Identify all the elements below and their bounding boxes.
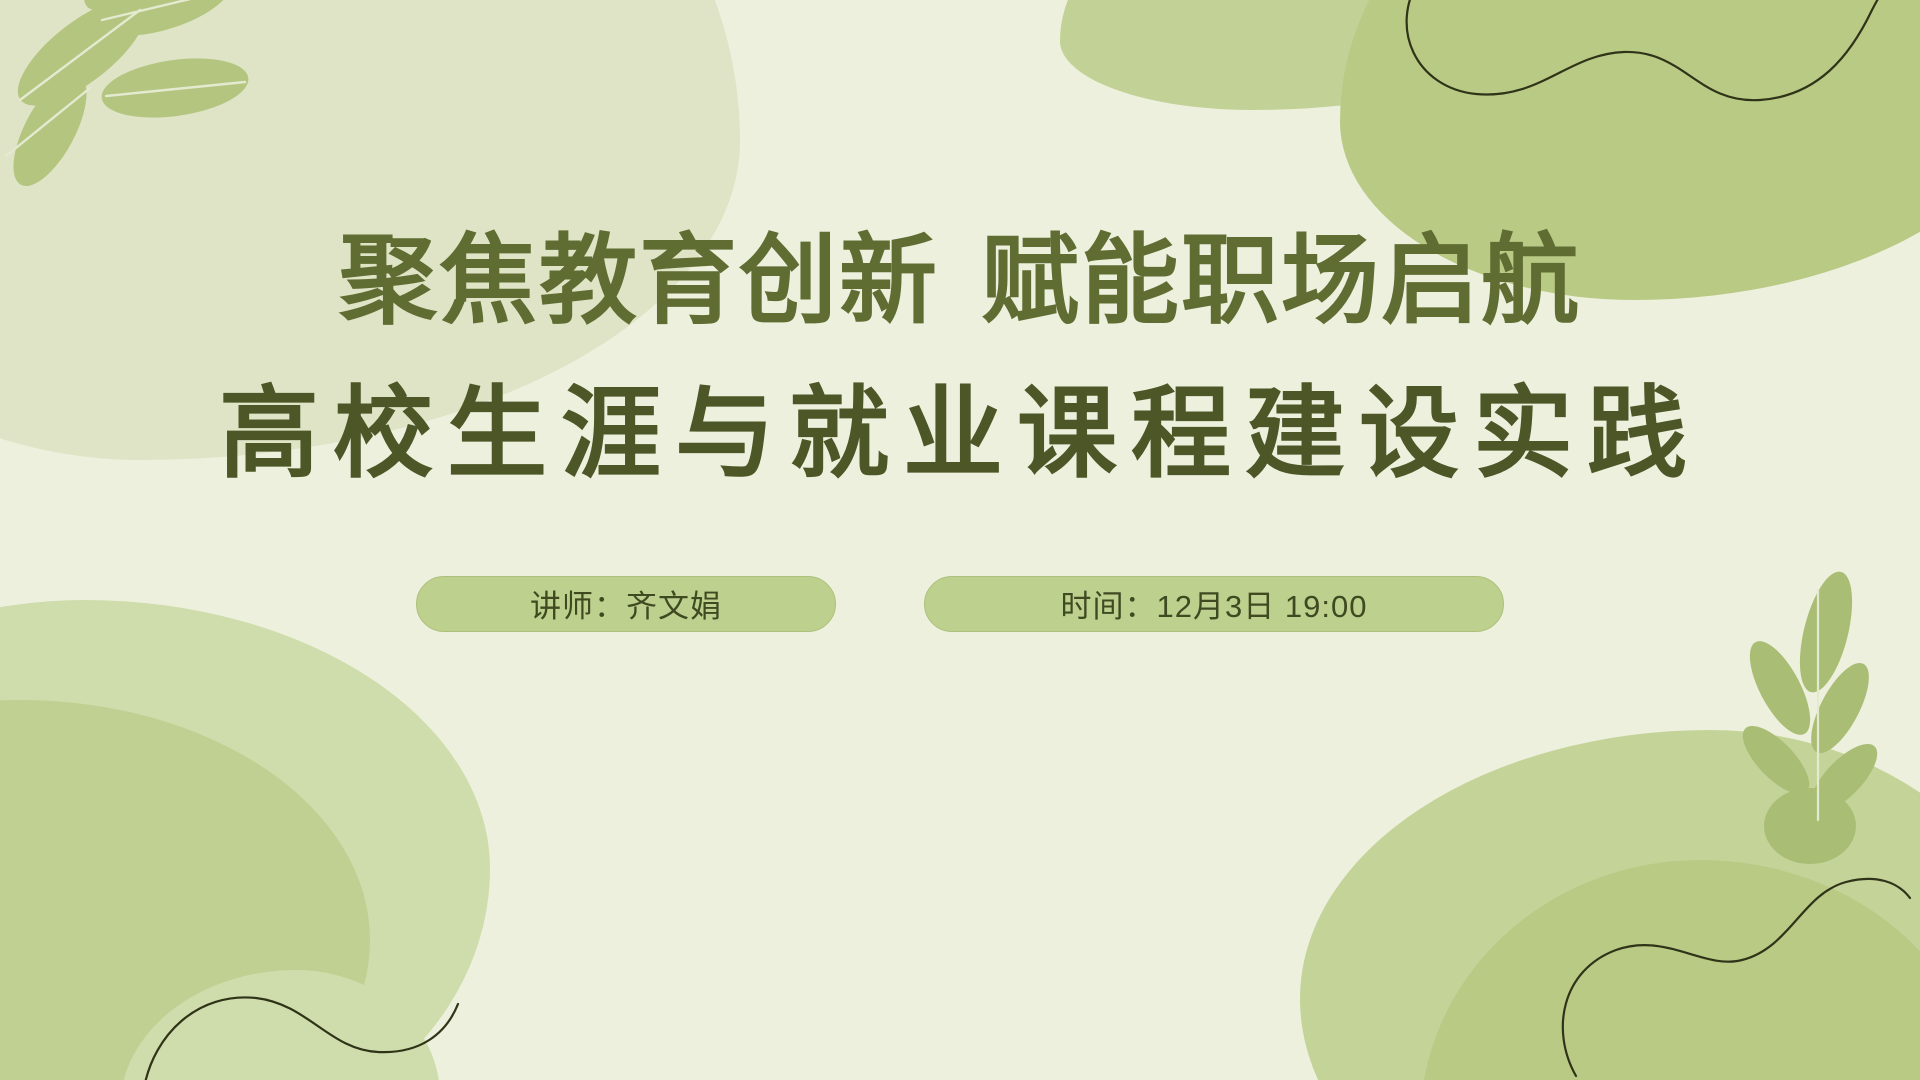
poster-canvas: 聚焦教育创新赋能职场启航 高校生涯与就业课程建设实践 讲师：齐文娟 时间：12月… [0, 0, 1920, 1080]
title-line1-part1: 聚焦教育创新 [339, 225, 939, 335]
title-line-2: 高校生涯与就业课程建设实践 [0, 380, 1920, 488]
title-block: 聚焦教育创新赋能职场启航 高校生涯与就业课程建设实践 [0, 228, 1920, 488]
time-badge-label: 时间：12月3日 19:00 [1061, 581, 1368, 626]
badge-row: 讲师：齐文娟 时间：12月3日 19:00 [416, 576, 1504, 632]
speaker-badge-label: 讲师：齐文娟 [530, 581, 722, 626]
speaker-badge: 讲师：齐文娟 [416, 576, 836, 632]
time-badge: 时间：12月3日 19:00 [924, 576, 1504, 632]
title-line1-part2: 赋能职场启航 [981, 225, 1581, 335]
title-line-1: 聚焦教育创新赋能职场启航 [0, 228, 1920, 334]
poster-content: 聚焦教育创新赋能职场启航 高校生涯与就业课程建设实践 讲师：齐文娟 时间：12月… [0, 0, 1920, 1080]
